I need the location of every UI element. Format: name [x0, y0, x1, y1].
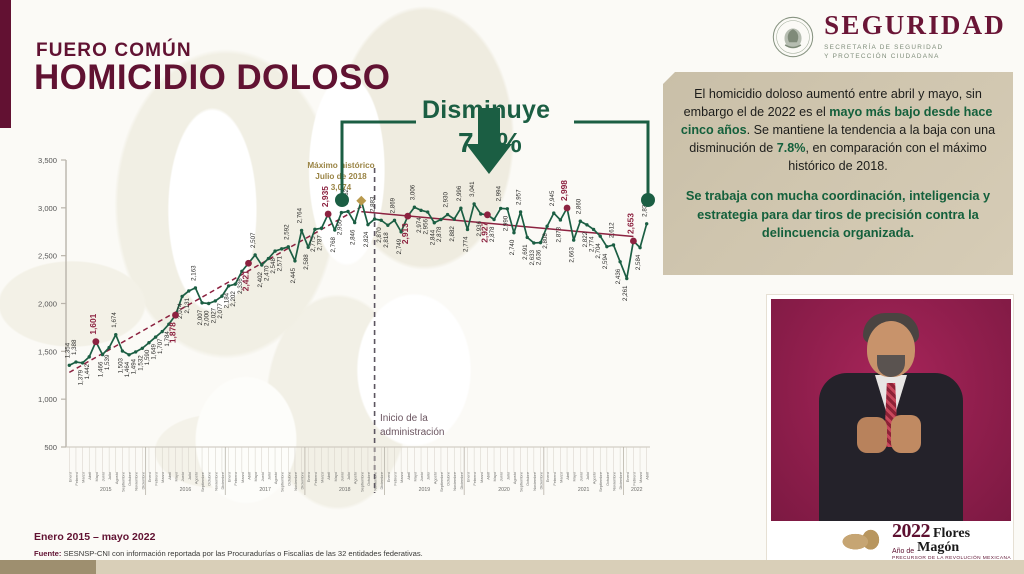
value-label: 2,882 [449, 226, 456, 242]
x-axis-month-tick: Noviembre [452, 472, 457, 491]
x-axis-month-tick: Noviembre [293, 472, 298, 491]
mexico-coat-of-arms-icon [772, 16, 814, 58]
data-point [453, 217, 456, 220]
y-axis-tick: 1,500 [38, 347, 57, 356]
value-label: 2,950 [336, 219, 343, 235]
x-axis-month-tick: Mayo [492, 472, 497, 482]
x-axis-month-tick: Abril [87, 472, 92, 480]
data-point [214, 299, 217, 302]
value-label: 2,445 [290, 267, 297, 283]
x-axis-month-tick: Diciembre [379, 472, 384, 490]
logo-year: 2022 [892, 521, 930, 541]
x-axis-month-tick: Febrero [631, 472, 636, 486]
x-axis-month-tick: Enero [67, 472, 72, 482]
data-point [280, 247, 283, 250]
x-axis-month-tick: Octubre [446, 472, 451, 486]
data-point [107, 346, 110, 349]
data-point [300, 229, 303, 232]
x-axis-month-tick: Octubre [286, 472, 291, 486]
info-panel: El homicidio doloso aumentó entre abril … [663, 72, 1013, 275]
y-axis-tick: 500 [44, 443, 57, 452]
data-point [526, 236, 529, 239]
x-axis-month-tick: Abril [406, 472, 411, 480]
info-p1-part-c: , en comparación con el máximo histórico… [788, 141, 986, 173]
data-point [353, 221, 356, 224]
x-axis-month-tick: Mayo [253, 472, 258, 482]
x-axis-month-tick: Junio [499, 472, 504, 481]
x-axis-month-tick: Julio [585, 472, 590, 480]
data-point [426, 210, 429, 213]
highlighted-value-label: 2,913 [400, 223, 410, 244]
x-axis-month-tick: Agosto [592, 472, 597, 484]
data-point [618, 260, 621, 263]
data-point [625, 277, 628, 280]
data-point [479, 212, 482, 215]
data-point [393, 219, 396, 222]
highlighted-data-point [630, 238, 637, 245]
value-label: 2,808 [542, 233, 549, 249]
down-arrow-icon [466, 108, 512, 174]
series-line [69, 201, 646, 366]
value-label: 2,261 [622, 285, 629, 301]
x-axis-month-tick: Agosto [512, 472, 517, 484]
data-point [320, 227, 323, 230]
x-axis-month-tick: Octubre [127, 472, 132, 486]
y-axis-tick: 2,000 [38, 300, 57, 309]
value-label: 2,636 [536, 249, 543, 265]
value-label: 2,873 [555, 226, 562, 242]
x-axis-month-tick: Julio [187, 472, 192, 480]
x-axis-month-tick: Abril [645, 472, 650, 480]
value-label: 2,436 [615, 268, 622, 284]
x-axis-year-label: 2015 [100, 487, 112, 493]
highlighted-data-point [245, 260, 252, 267]
value-label: 2,878 [489, 226, 496, 242]
data-point [121, 349, 124, 352]
flores-magon-logo: 2022 Flores Año de Magón PRECURSOR DE LA… [771, 523, 1011, 559]
annotation-inicio-administracion: Inicio de la administración [380, 412, 444, 439]
x-axis-month-tick: Septiembre [280, 472, 285, 492]
data-point [141, 347, 144, 350]
x-axis-year-label: 2017 [259, 487, 271, 493]
x-axis-month-tick: Mayo [572, 472, 577, 482]
x-axis-month-tick: Julio [346, 472, 351, 480]
data-point [612, 243, 615, 246]
x-axis-month-tick: Marzo [638, 472, 643, 483]
x-axis-month-tick: Enero [466, 472, 471, 482]
data-point [545, 225, 548, 228]
footer-bar [0, 560, 1024, 574]
x-axis-month-tick: Septiembre [439, 472, 444, 492]
data-point [227, 284, 230, 287]
highlighted-value-label: 2,653 [625, 213, 635, 234]
footer-date-range: Enero 2015 – mayo 2022 [34, 531, 155, 543]
x-axis-month-tick: Mayo [412, 472, 417, 482]
brand-header: SEGURIDAD SECRETARÍA DE SEGURIDAD Y PROT… [772, 12, 1006, 62]
x-axis-month-tick: Enero [545, 472, 550, 482]
value-label: 2,764 [297, 207, 304, 223]
data-point [552, 211, 555, 214]
x-axis-month-tick: Enero [227, 472, 232, 482]
x-axis-year-label: 2020 [498, 487, 510, 493]
x-axis-month-tick: Noviembre [134, 472, 139, 491]
x-axis-month-tick: Julio [505, 472, 510, 480]
x-axis-year-label: 2019 [419, 487, 431, 493]
x-axis-month-tick: Enero [625, 472, 630, 482]
x-axis-month-tick: Mayo [174, 472, 179, 482]
highlighted-data-point [484, 211, 491, 218]
interpreter-frame [771, 299, 1011, 521]
x-axis-month-tick: Febrero [154, 472, 159, 486]
x-axis-month-tick: Febrero [552, 472, 557, 486]
footer-source: Fuente: SESNSP-CNI con información repor… [34, 549, 423, 558]
data-point [446, 213, 449, 216]
data-point [68, 364, 71, 367]
x-axis-month-tick: Febrero [393, 472, 398, 486]
brand-subtitle: SECRETARÍA DE SEGURIDAD Y PROTECCIÓN CIU… [824, 43, 1006, 62]
left-accent-bar [0, 0, 11, 128]
y-axis-tick: 1,000 [38, 395, 57, 404]
x-axis-month-tick: Agosto [353, 472, 358, 484]
data-point [194, 286, 197, 289]
x-axis-month-tick: Noviembre [213, 472, 218, 491]
data-point [74, 360, 77, 363]
x-axis-month-tick: Febrero [74, 472, 79, 486]
x-axis-month-tick: Diciembre [539, 472, 544, 490]
data-point [88, 355, 91, 358]
callout-dot-left [335, 193, 349, 207]
value-label: 1,442 [84, 363, 91, 379]
brand-subtitle-line1: SECRETARÍA DE SEGURIDAD [824, 43, 1006, 52]
x-axis-month-tick: Febrero [313, 472, 318, 486]
trend-2015-2018-rising [69, 207, 361, 373]
page-title: HOMICIDIO DOLOSO [34, 58, 390, 98]
value-label: 1,388 [71, 339, 78, 355]
x-axis-month-tick: Marzo [479, 472, 484, 483]
value-label: 2,824 [363, 231, 370, 247]
data-point [638, 246, 641, 249]
data-point [433, 221, 436, 224]
data-point [645, 222, 648, 225]
x-axis-month-tick: Octubre [207, 472, 212, 486]
highlighted-data-point [172, 312, 179, 319]
value-label: 2,663 [569, 247, 576, 263]
x-axis-month-tick: Junio [180, 472, 185, 481]
x-axis-month-tick: Enero [147, 472, 152, 482]
x-axis-month-tick: Diciembre [300, 472, 305, 490]
x-axis-month-tick: Abril [167, 472, 172, 480]
x-axis-month-tick: Abril [326, 472, 331, 480]
highlighted-value-label: 2,927 [479, 221, 489, 242]
highlighted-data-point [92, 338, 99, 345]
highlighted-data-point [404, 213, 411, 220]
value-label: 2,163 [190, 265, 197, 281]
x-axis-month-tick: Octubre [525, 472, 530, 486]
value-label: 2,584 [635, 254, 642, 270]
x-axis-month-tick: Diciembre [618, 472, 623, 490]
callout-connector [330, 100, 660, 210]
data-point [599, 234, 602, 237]
info-paragraph-1: El homicidio doloso aumentó entre abril … [680, 86, 996, 175]
value-label: 2,787 [317, 235, 324, 251]
footer-source-label: Fuente: [34, 549, 61, 558]
footer-source-text: SESNSP-CNI con información reportada por… [61, 549, 422, 558]
data-point [187, 289, 190, 292]
x-axis-month-tick: Agosto [114, 472, 119, 484]
logo-name-line2: Magón [917, 541, 959, 555]
value-label: 2,571 [277, 255, 284, 271]
data-point [253, 253, 256, 256]
x-axis-month-tick: Marzo [399, 472, 404, 483]
x-axis-month-tick: Septiembre [359, 472, 364, 492]
callout-dot-right [641, 193, 655, 207]
data-point [592, 228, 595, 231]
value-label: 2,594 [602, 253, 609, 269]
x-axis-month-tick: Marzo [240, 472, 245, 483]
x-axis-month-tick: Enero [306, 472, 311, 482]
info-paragraph-2: Se trabaja con mucha coordinación, intel… [680, 187, 996, 243]
brand-text-block: SEGURIDAD SECRETARÍA DE SEGURIDAD Y PROT… [824, 12, 1006, 62]
x-axis-month-tick: Septiembre [200, 472, 205, 492]
value-label: 2,592 [283, 224, 290, 240]
sign-language-interpreter-video[interactable]: 2022 Flores Año de Magón PRECURSOR DE LA… [766, 294, 1014, 562]
value-label: 2,612 [609, 222, 616, 238]
x-axis-year-label: 2018 [339, 487, 351, 493]
data-point [532, 241, 535, 244]
value-label: 2,740 [509, 239, 516, 255]
highlighted-value-label: 1,601 [88, 313, 98, 334]
x-axis-month-tick: Junio [419, 472, 424, 481]
brand-subtitle-line2: Y PROTECCIÓN CIUDADANA [824, 52, 1006, 61]
x-axis-month-tick: Julio [107, 472, 112, 480]
footer-bar-accent [0, 560, 96, 574]
x-axis-month-tick: Diciembre [459, 472, 464, 490]
x-axis-month-tick: Febrero [233, 472, 238, 486]
value-label: 2,768 [330, 236, 337, 252]
x-axis-month-tick: Mayo [333, 472, 338, 482]
x-axis-month-tick: Diciembre [140, 472, 145, 490]
data-point [340, 211, 343, 214]
flores-magon-portrait-icon [839, 525, 887, 557]
data-point [572, 238, 575, 241]
data-point [207, 302, 210, 305]
data-point [346, 210, 349, 213]
highlighted-data-point [325, 211, 332, 218]
data-point [466, 228, 469, 231]
x-axis-month-tick: Agosto [193, 472, 198, 484]
data-point [380, 219, 383, 222]
x-axis-month-tick: Abril [485, 472, 490, 480]
data-point [180, 295, 183, 298]
data-point [200, 301, 203, 304]
x-axis-month-tick: Mayo [94, 472, 99, 482]
x-axis-month-tick: Enero [386, 472, 391, 482]
x-axis-month-tick: Noviembre [612, 472, 617, 491]
logo-text-block: 2022 Flores Año de Magón PRECURSOR DE LA… [892, 521, 1011, 562]
value-label: 2,588 [303, 254, 310, 270]
data-point [439, 218, 442, 221]
x-axis-month-tick: Marzo [320, 472, 325, 483]
value-label: 1,674 [111, 312, 118, 328]
value-label: 2,990 [502, 215, 509, 231]
data-point [492, 218, 495, 221]
data-point [127, 353, 130, 356]
brand-title: SEGURIDAD [824, 12, 1006, 39]
y-axis-tick: 2,500 [38, 252, 57, 261]
value-label: 2,846 [350, 229, 357, 245]
x-axis-month-tick: Noviembre [373, 472, 378, 491]
y-axis-tick: 3,500 [38, 156, 57, 165]
data-point [147, 341, 150, 344]
x-axis-month-tick: Abril [247, 472, 252, 480]
x-axis-month-tick: Septiembre [120, 472, 125, 492]
highlighted-value-label: 2,421 [241, 270, 251, 291]
x-axis-month-tick: Agosto [273, 472, 278, 484]
data-point [512, 231, 515, 234]
x-axis-month-tick: Septiembre [598, 472, 603, 492]
x-axis-month-tick: Junio [101, 472, 106, 481]
x-axis-month-tick: Octubre [366, 472, 371, 486]
x-axis-month-tick: Marzo [81, 472, 86, 483]
x-axis-month-tick: Diciembre [220, 472, 225, 490]
x-axis-year-label: 2016 [180, 487, 192, 493]
value-label: 2,131 [184, 297, 191, 313]
inicio-line-2: administración [380, 426, 444, 440]
data-point [154, 335, 157, 338]
data-point [519, 210, 522, 213]
highlighted-value-label: 1,878 [167, 322, 177, 343]
data-point [559, 218, 562, 221]
x-axis-month-tick: Julio [266, 472, 271, 480]
x-axis-month-tick: Octubre [605, 472, 610, 486]
x-axis-month-tick: Junio [260, 472, 265, 481]
data-point [134, 350, 137, 353]
logo-anode: Año de [892, 548, 914, 555]
x-axis-month-tick: Marzo [160, 472, 165, 483]
data-point [114, 333, 117, 336]
x-axis-month-tick: Agosto [432, 472, 437, 484]
data-point [366, 223, 369, 226]
data-point [287, 245, 290, 248]
data-point [605, 245, 608, 248]
data-point [386, 224, 389, 227]
x-axis-month-tick: Noviembre [532, 472, 537, 491]
value-label: 2,878 [436, 226, 443, 242]
x-axis-month-tick: Marzo [558, 472, 563, 483]
x-axis-month-tick: Junio [339, 472, 344, 481]
data-point [273, 249, 276, 252]
value-label: 2,818 [383, 232, 390, 248]
data-point [313, 228, 316, 231]
value-label: 2,507 [250, 232, 257, 248]
x-axis-month-tick: Julio [426, 472, 431, 480]
value-label: 2,774 [463, 236, 470, 252]
data-point [293, 259, 296, 262]
value-label: 1,539 [104, 354, 111, 370]
info-p1-percent: 7.8% [777, 141, 806, 155]
y-axis-tick: 3,000 [38, 204, 57, 213]
data-point [585, 223, 588, 226]
x-axis-month-tick: Abril [565, 472, 570, 480]
data-point [579, 220, 582, 223]
x-axis-month-tick: Septiembre [519, 472, 524, 492]
x-axis-month-tick: Febrero [472, 472, 477, 486]
slide-root: FUERO COMÚN HOMICIDIO DOLOSO SEGURIDAD S… [0, 0, 1024, 574]
x-axis-month-tick: Junio [578, 472, 583, 481]
logo-name-line1: Flores [933, 527, 970, 541]
x-axis-year-label: 2021 [578, 487, 590, 493]
data-point [373, 217, 376, 220]
x-axis-year-label: 2022 [631, 487, 643, 493]
inicio-line-1: Inicio de la [380, 412, 444, 426]
